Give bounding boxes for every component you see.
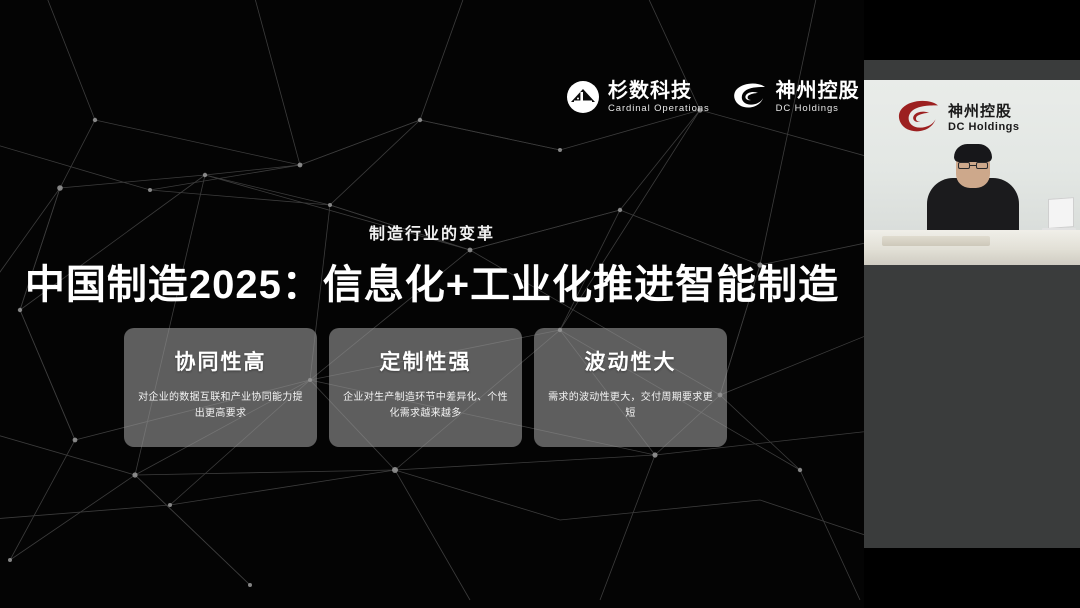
card-body: 对企业的数据互联和产业协同能力提出更高要求 xyxy=(137,390,305,421)
card-title: 定制性强 xyxy=(380,346,472,376)
slide-logo-bar: 杉数科技 Cardinal Operations 神州控股 DC Holding… xyxy=(566,72,860,122)
card-body: 需求的波动性更大，交付周期要求更短 xyxy=(547,390,715,421)
video-feed: 神州控股 DC Holdings xyxy=(864,80,1080,265)
feature-card: 协同性高 对企业的数据互联和产业协同能力提出更高要求 xyxy=(124,328,317,447)
dc-holdings-logo: 神州控股 DC Holdings xyxy=(732,81,860,114)
dc-logo-cn: 神州控股 xyxy=(776,81,860,101)
cardinal-logo-en: Cardinal Operations xyxy=(608,104,710,114)
wall-dc-holdings-logo: 神州控股 DC Holdings xyxy=(896,99,1020,137)
presenter-hair xyxy=(954,144,992,162)
card-title: 波动性大 xyxy=(585,346,677,376)
cardinal-circle-mark xyxy=(566,80,600,114)
cardinal-operations-logo: 杉数科技 Cardinal Operations xyxy=(566,80,710,114)
feature-card: 定制性强 企业对生产制造环节中差异化、个性化需求越来越多 xyxy=(329,328,522,447)
presentation-screen: 杉数科技 Cardinal Operations 神州控股 DC Holding… xyxy=(0,0,1080,608)
wall-logo-cn: 神州控股 xyxy=(948,104,1020,119)
video-top-band xyxy=(864,60,1080,80)
slide-title: 中国制造2025：信息化+工业化推进智能制造 xyxy=(0,252,864,310)
glasses-icon xyxy=(958,162,988,169)
laptop-icon xyxy=(1042,198,1076,232)
dc-logo-en: DC Holdings xyxy=(776,104,860,114)
dc-swirl-mark-red xyxy=(896,99,942,137)
card-body: 企业对生产制造环节中差异化、个性化需求越来越多 xyxy=(342,390,510,421)
feature-card: 波动性大 需求的波动性更大，交付周期要求更短 xyxy=(534,328,727,447)
slide-area: 杉数科技 Cardinal Operations 神州控股 DC Holding… xyxy=(0,0,864,608)
presenter-video-panel[interactable]: 神州控股 DC Holdings xyxy=(864,60,1080,548)
slide-subtitle: 制造行业的变革 xyxy=(0,220,864,244)
dc-swirl-mark xyxy=(732,82,768,112)
desk-surface xyxy=(864,230,1080,265)
presenter-figure xyxy=(927,142,1019,232)
feature-card-row: 协同性高 对企业的数据互联和产业协同能力提出更高要求 定制性强 企业对生产制造环… xyxy=(124,328,740,447)
card-title: 协同性高 xyxy=(175,346,267,376)
cardinal-logo-cn: 杉数科技 xyxy=(608,81,710,101)
wall-logo-en: DC Holdings xyxy=(948,122,1020,133)
